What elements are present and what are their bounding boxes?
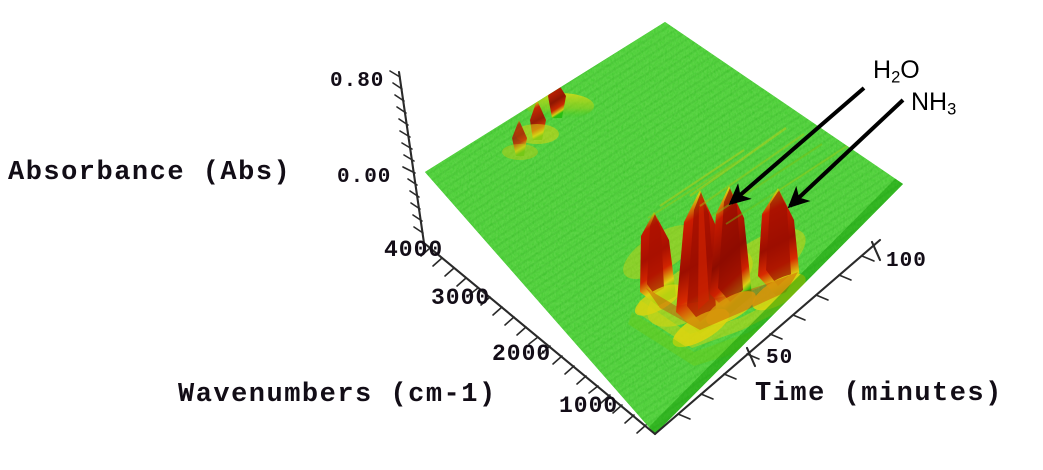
tick-label-wavenumbers-4000: 4000 <box>384 237 443 263</box>
axis-title-time: Time (minutes) <box>755 379 1003 409</box>
annotation-nh3-sub: 3 <box>947 101 956 119</box>
annotation-h2o-main: H <box>873 56 891 84</box>
tick-label-time-100: 100 <box>886 250 927 273</box>
annotation-label-h2o: H2O <box>873 56 920 88</box>
annotation-h2o-sub: 2 <box>891 69 900 87</box>
tick-label-wavenumbers-2000: 2000 <box>492 341 551 367</box>
tick-label-wavenumbers-3000: 3000 <box>431 285 490 311</box>
tick-label-absorbance-000: 0.00 <box>337 166 391 189</box>
tick-label-absorbance-080: 0.80 <box>330 70 384 93</box>
annotation-label-nh3: NH3 <box>911 88 956 120</box>
surface-baseline-plane <box>425 22 903 434</box>
annotation-nh3-main: NH <box>911 88 947 116</box>
axis-title-absorbance: Absorbance (Abs) <box>8 158 291 188</box>
annotation-h2o-tail: O <box>900 56 919 84</box>
figure-canvas: Absorbance (Abs) Wavenumbers (cm-1) Time… <box>0 0 1043 470</box>
axis-title-wavenumbers: Wavenumbers (cm-1) <box>178 380 497 410</box>
tick-label-time-50: 50 <box>766 347 793 370</box>
tick-label-wavenumbers-1000: 1000 <box>559 393 618 419</box>
